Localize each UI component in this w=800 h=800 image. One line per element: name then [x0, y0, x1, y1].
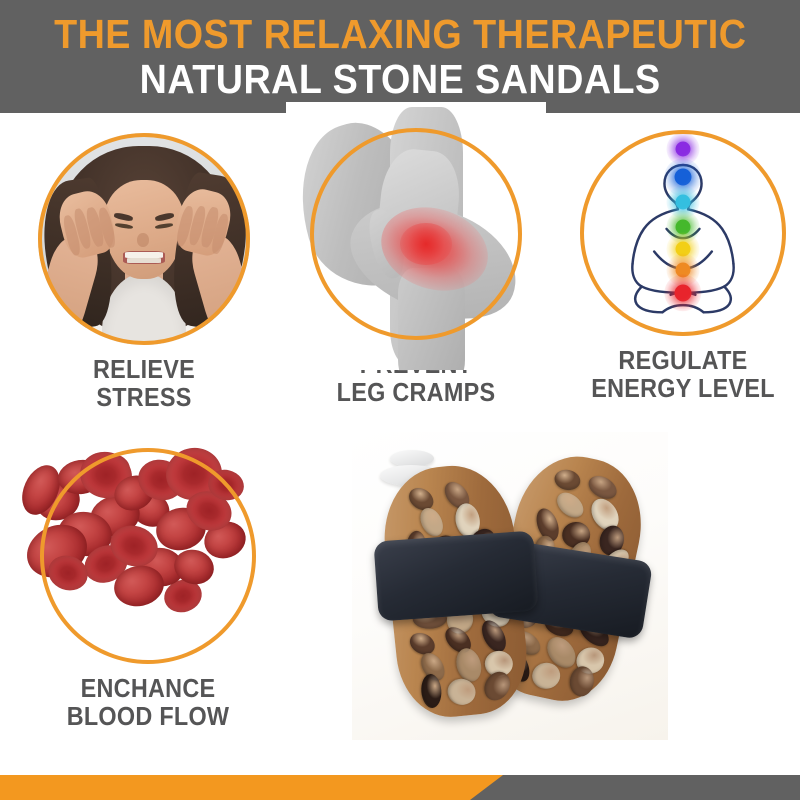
feature-image-circle — [38, 133, 250, 345]
blood-cells-illustration — [18, 430, 280, 684]
footer-orange-segment — [0, 775, 520, 800]
caption-line: BLOOD FLOW — [51, 702, 245, 730]
footer-bar — [0, 775, 800, 800]
page-title-line2: NATURAL STONE SANDALS — [139, 59, 660, 100]
product-photo — [352, 432, 668, 740]
page-title-line1: THE MOST RELAXING THERAPEUTIC — [54, 14, 746, 55]
feature-enchance-blood-flow: ENCHANCE BLOOD FLOW — [40, 448, 256, 664]
chakra-dot-third-eye — [675, 169, 692, 186]
feature-image-circle — [580, 130, 786, 336]
feature-relieve-stress: RELIEVE STRESS — [38, 133, 250, 345]
feature-image-circle — [40, 448, 256, 664]
chakra-dots — [580, 130, 786, 336]
header-banner: THE MOST RELAXING THERAPEUTIC NATURAL ST… — [0, 0, 800, 113]
caption-line: LEG CRAMPS — [321, 378, 512, 406]
feature-regulate-energy-level: REGULATE ENERGY LEVEL — [580, 130, 786, 336]
footer-gray-segment — [470, 775, 800, 800]
feature-caption: REGULATE ENERGY LEVEL — [590, 346, 775, 402]
feature-image-circle — [310, 128, 522, 340]
stressed-woman-photo — [38, 133, 250, 345]
feature-caption: RELIEVE STRESS — [49, 355, 240, 411]
chakra-figure-illustration — [580, 130, 786, 336]
chakra-dot-crown — [676, 141, 691, 156]
caption-line: ENERGY LEVEL — [590, 374, 775, 402]
chakra-dot-root — [675, 284, 692, 301]
sandal-strap-front — [373, 531, 538, 622]
leg-cramp-photo — [286, 102, 546, 370]
caption-line: REGULATE — [590, 346, 775, 374]
feature-prevent-leg-cramps: PREVENT LEG CRAMPS — [310, 128, 522, 340]
caption-line: RELIEVE STRESS — [49, 355, 240, 411]
chakra-dot-throat — [676, 195, 691, 210]
infographic-page: THE MOST RELAXING THERAPEUTIC NATURAL ST… — [0, 0, 800, 800]
